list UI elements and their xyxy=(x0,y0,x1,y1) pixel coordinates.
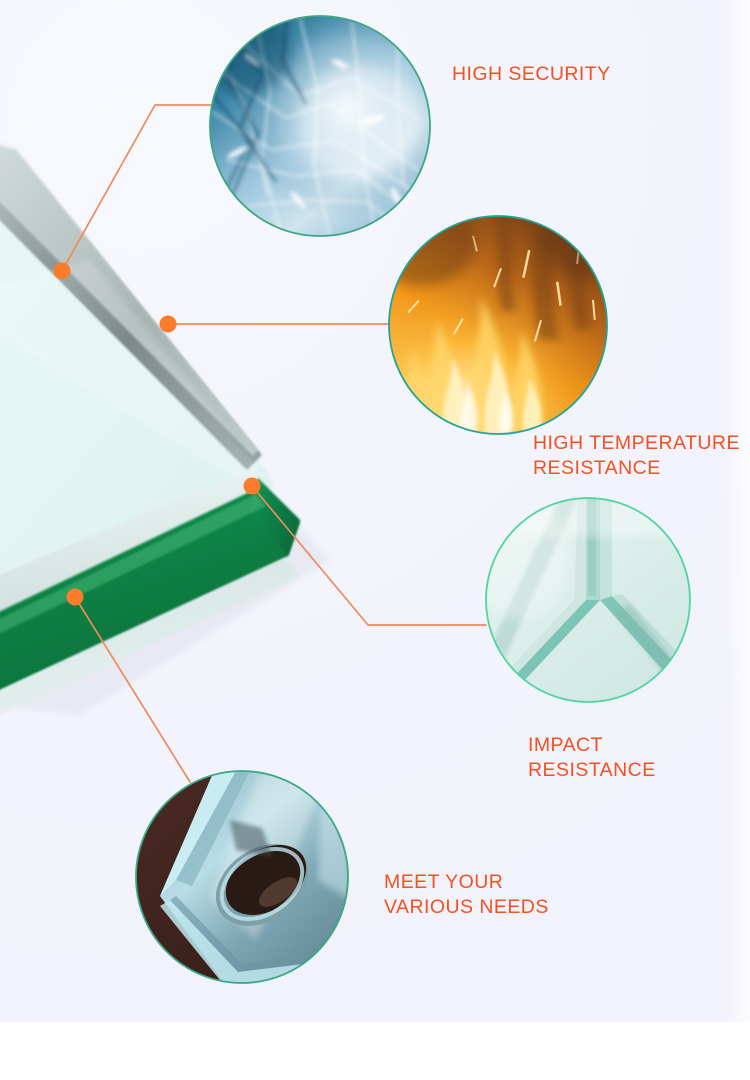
feature-label-impact-resistance: IMPACT RESISTANCE xyxy=(528,733,656,783)
feature-label-meet-your-various-needs: MEET YOUR VARIOUS NEEDS xyxy=(384,870,549,920)
feature-callout-poster: HIGH SECURITY HIGH TEMPERATURE RESISTANC… xyxy=(0,0,750,1080)
feature-label-high-security: HIGH SECURITY xyxy=(452,62,611,87)
feature-photo-circles xyxy=(0,0,750,1080)
feature-label-high-temperature-resistance: HIGH TEMPERATURE RESISTANCE xyxy=(533,431,740,481)
feature-circle-meet-your-various-needs[interactable] xyxy=(136,771,352,990)
feature-circle-impact-resistance[interactable] xyxy=(470,497,706,706)
feature-circle-high-temperature-resistance[interactable] xyxy=(364,194,630,438)
feature-circle-high-security[interactable] xyxy=(196,10,432,238)
